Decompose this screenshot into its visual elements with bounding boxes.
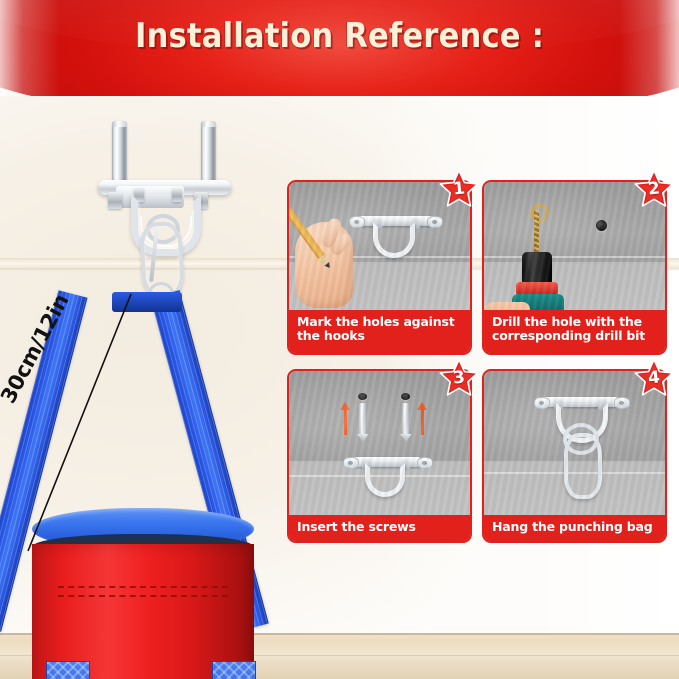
insert-arrow-right	[421, 409, 424, 435]
step-1-caption: Mark the holes against the hooks	[289, 310, 470, 353]
concrete-seam	[484, 256, 665, 258]
drilled-hole-right	[401, 393, 410, 400]
bag-reinforcement-patch-right	[212, 661, 256, 679]
strap-top-wrap	[112, 292, 182, 312]
header-banner: Installation Reference :	[0, 0, 679, 96]
drilled-hole-left	[358, 393, 367, 400]
step-panel-4[interactable]: Hang the punching bag 4	[482, 369, 667, 544]
d-ring-1	[373, 222, 415, 258]
bracket-eye-right-4	[614, 397, 630, 409]
step-number-4: 4	[631, 354, 677, 400]
bag-stitch-line-2	[58, 595, 228, 597]
step-panel-3[interactable]: Insert the screws 3	[287, 369, 472, 544]
drill-chuck	[522, 252, 552, 284]
bag-reinforcement-patch-left	[46, 661, 90, 679]
drill-holding-hand	[484, 302, 530, 310]
bracket-nut-outer-left	[108, 192, 122, 209]
screw-right	[402, 403, 410, 437]
punching-bag-body	[32, 544, 254, 679]
drill-bit-tip	[530, 204, 549, 222]
carabiner-hook-4	[564, 433, 602, 499]
step-panel-1[interactable]: Mark the holes against the hooks 1	[287, 180, 472, 355]
page-title: Installation Reference :	[34, 16, 645, 56]
step-4-caption: Hang the punching bag	[484, 515, 665, 541]
bracket-eye-left-3	[343, 457, 359, 469]
bag-stitch-line-1	[58, 586, 228, 588]
product-photo	[0, 96, 286, 679]
bolt-cap-left	[112, 121, 127, 127]
d-ring-3	[365, 463, 405, 497]
step-2-caption: Drill the hole with the corresponding dr…	[484, 310, 665, 353]
installation-steps-grid: Mark the holes against the hooks 1	[287, 180, 667, 543]
installation-reference-image: Installation Reference :	[0, 0, 679, 679]
mounting-bolt-right	[201, 121, 216, 183]
insert-arrow-left	[344, 409, 347, 435]
bolt-cap-right	[201, 121, 216, 127]
step-number-1: 1	[436, 166, 482, 212]
step-number-3: 3	[436, 354, 482, 400]
step-number-2: 2	[631, 166, 677, 212]
step-badge-1: 1	[438, 169, 480, 211]
bracket-eye-left-1	[349, 216, 365, 228]
step-panel-2[interactable]: Drill the hole with the corresponding dr…	[482, 180, 667, 355]
bracket-eye-right-1	[427, 216, 443, 228]
step-badge-4: 4	[633, 358, 675, 400]
bracket-eye-left-4	[534, 397, 550, 409]
step-3-caption: Insert the screws	[289, 515, 470, 541]
step-badge-3: 3	[438, 358, 480, 400]
screw-left	[359, 403, 367, 437]
drilled-hole	[596, 220, 607, 231]
drill-bit	[534, 210, 539, 254]
step-badge-2: 2	[633, 169, 675, 211]
mounting-bolt-left	[112, 121, 127, 183]
bracket-eye-right-3	[417, 457, 433, 469]
